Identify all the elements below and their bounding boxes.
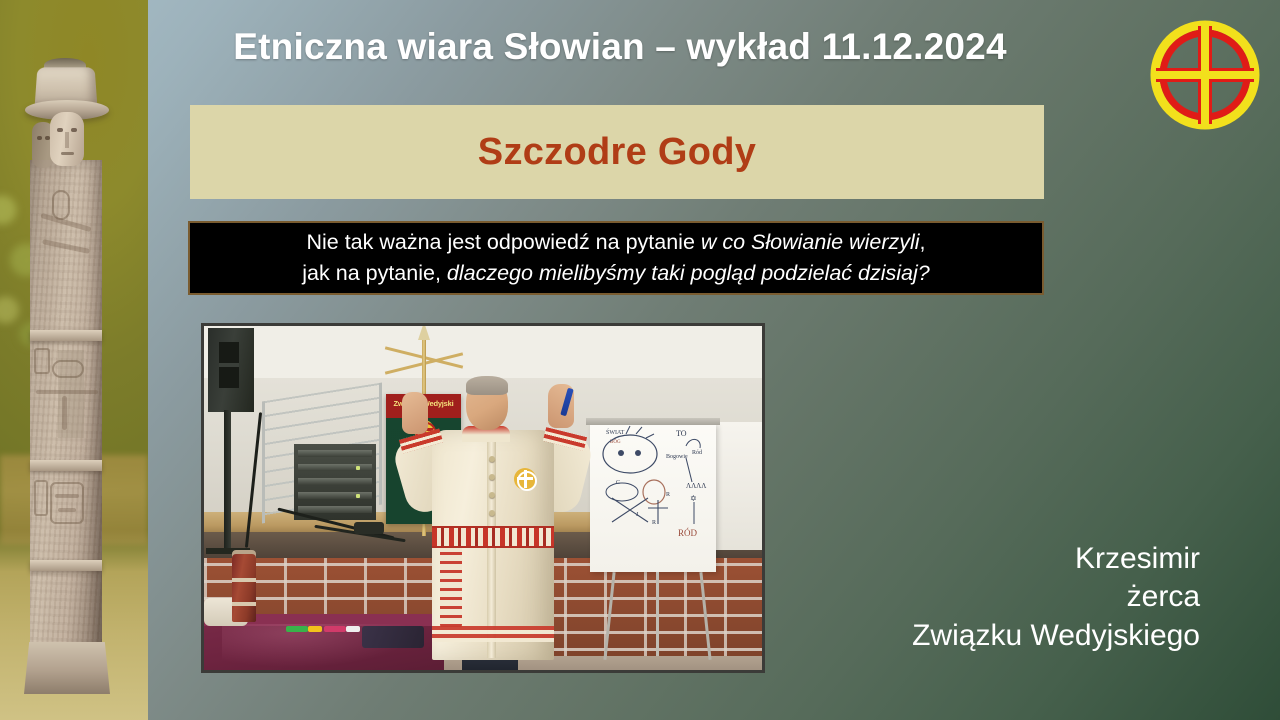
photo-speaker-hair xyxy=(466,376,508,395)
zbruch-idol-photo xyxy=(0,0,148,720)
idol-figure-arms xyxy=(36,390,98,394)
photo-flipchart-leg-center xyxy=(656,572,659,656)
subtitle-text: Szczodre Gody xyxy=(478,131,756,174)
photo-wooden-idol-band-2 xyxy=(232,602,256,606)
photo-robe-sun-cross-bar xyxy=(517,477,533,480)
photo-robe-button-3 xyxy=(489,492,495,498)
photo-flipchart-front-sheet: ŚWIAT BÓG TO Bogowie Ród ΛΛΛΛ ✡ RÓD C R … xyxy=(590,424,716,572)
speaker-name: Krzesimir xyxy=(780,540,1200,578)
sun-cross-icon xyxy=(1148,18,1262,132)
quote-line-2-italic: dlaczego mielibyśmy taki pogląd podziela… xyxy=(447,261,930,285)
photo-speaker-stand xyxy=(224,410,231,550)
idol-band-upper xyxy=(30,330,102,341)
photo-robe-button-4 xyxy=(489,510,495,516)
photo-tablet-device xyxy=(362,626,424,648)
idol-band-middle xyxy=(30,460,102,471)
idol-mask-mouth xyxy=(58,508,76,512)
speaker-role: żerca xyxy=(780,578,1200,616)
photo-robe-button-2 xyxy=(489,474,495,480)
photo-sash-tail xyxy=(440,546,462,632)
idol-statue xyxy=(22,30,114,690)
photo-marker-pink xyxy=(324,626,346,632)
idol-mask-relief xyxy=(50,482,84,524)
photo-robe-button-1 xyxy=(489,456,495,462)
idol-side-relief-2 xyxy=(34,480,48,516)
photo-wooden-idol xyxy=(232,554,256,622)
idol-horn-relief xyxy=(52,190,70,220)
photo-robe-hem-trim xyxy=(432,626,554,642)
quote-box: Nie tak ważna jest odpowiedź na pytanie … xyxy=(188,221,1044,295)
photo-wooden-idol-band-1 xyxy=(232,578,256,582)
page-title: Etniczna wiara Słowian – wykład 11.12.20… xyxy=(190,26,1050,68)
photo-marker-green xyxy=(286,626,308,632)
photo-loudspeaker xyxy=(208,328,254,412)
idol-pedestal xyxy=(24,642,110,694)
photo-wall-upper xyxy=(204,326,765,378)
photo-stage-object xyxy=(354,522,384,534)
sun-cross-logo xyxy=(1148,18,1262,132)
quote-line-2: jak na pytanie, dlaczego mielibyśmy taki… xyxy=(302,258,929,289)
speaker-organization: Związku Wedyjskiego xyxy=(780,617,1200,655)
photo-equipment-rack xyxy=(294,444,376,520)
presentation-slide: Etniczna wiara Słowian – wykład 11.12.20… xyxy=(0,0,1280,720)
idol-side-relief-1 xyxy=(34,348,50,374)
photo-woven-sash xyxy=(432,526,554,548)
idol-face-front xyxy=(50,112,84,166)
idol-mask-brow xyxy=(55,494,79,498)
photo-hand-left xyxy=(402,392,428,434)
quote-line-2-plain: jak na pytanie, xyxy=(302,261,447,285)
idol-figure-head xyxy=(52,360,84,378)
photo-marker-white xyxy=(346,626,360,632)
quote-line-1-plain: Nie tak ważna jest odpowiedź na pytanie xyxy=(306,230,700,254)
quote-line-1-italic: w co Słowianie wierzyli xyxy=(701,230,920,254)
photo-flipchart-clip xyxy=(586,418,720,425)
quote-line-1-tail: , xyxy=(920,230,926,254)
photo-marker-yellow xyxy=(308,626,322,632)
idol-band-lower xyxy=(30,560,102,571)
lecture-photo: Związek Wedyjski Ⴑ Ⴘ Ⴑ Ełk Prawo Wyobraź… xyxy=(201,323,765,673)
quote-line-1: Nie tak ważna jest odpowiedź na pytanie … xyxy=(306,227,925,258)
photo-flipchart-drawing-icon xyxy=(590,424,716,572)
subtitle-band: Szczodre Gody xyxy=(190,105,1044,199)
idol-figure-body xyxy=(62,396,67,430)
speaker-attribution: Krzesimir żerca Związku Wedyjskiego xyxy=(780,540,1200,655)
